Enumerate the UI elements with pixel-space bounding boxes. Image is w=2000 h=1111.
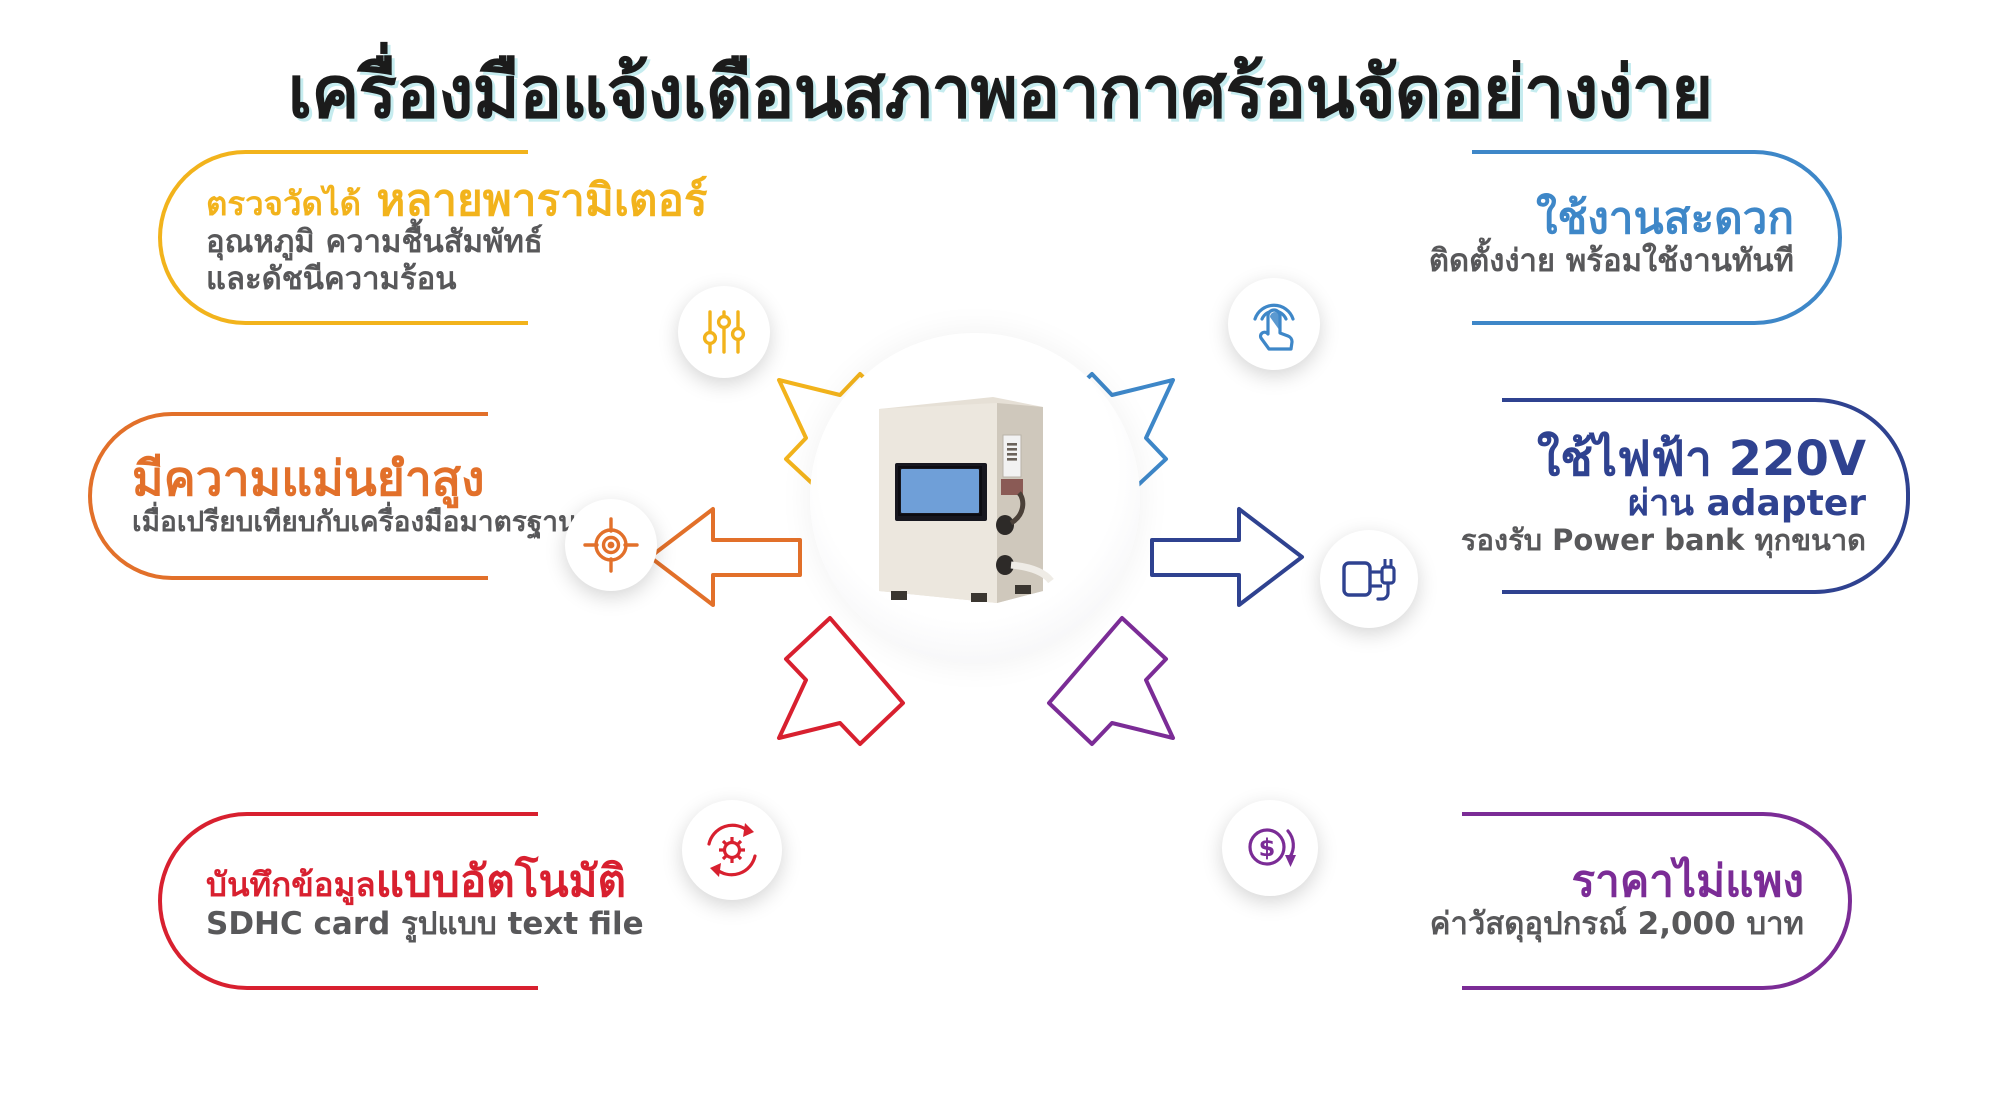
card-headline-auto-logging: บันทึกข้อมูลแบบอัตโนมัติ [206, 859, 626, 906]
plug-adapter-icon-bubble[interactable] [1320, 530, 1418, 628]
plug-adapter-icon [1340, 551, 1398, 607]
card-headline-low-price: ราคาไม่แพง [1572, 859, 1804, 906]
arrow-left [650, 509, 800, 605]
card-power-supply[interactable]: ใช้ไฟฟ้า 220V ผ่าน adapter รองรับ Power … [1502, 398, 1910, 594]
touch-tap-icon-bubble[interactable] [1228, 278, 1320, 370]
auto-recycle-gear-icon [701, 819, 763, 881]
arrow-down-right [1049, 618, 1173, 744]
card-headline2-power-supply: ผ่าน adapter [1628, 485, 1866, 523]
card-headline-high-accuracy: มีความแม่นยำสูง [132, 454, 485, 505]
card-auto-logging[interactable]: บันทึกข้อมูลแบบอัตโนมัติ SDHC card รูปแบ… [158, 812, 538, 990]
heat-alert-device-photo [875, 395, 1085, 610]
card-sub1-multi-parameter: อุณหภูมิ ความชื้นสัมพัทธ์ [206, 224, 543, 261]
card-easy-to-use[interactable]: ใช้งานสะดวก ติดตั้งง่าย พร้อมใช้งานทันที [1472, 150, 1842, 325]
card-sub1-power-supply: รองรับ Power bank ทุกขนาด [1461, 523, 1866, 557]
card-low-price[interactable]: ราคาไม่แพง ค่าวัสดุอุปกรณ์ 2,000 บาท [1462, 812, 1852, 990]
dollar-down-icon: $ [1241, 819, 1299, 877]
card-sub1-high-accuracy: เมื่อเปรียบเทียบกับเครื่องมือมาตรฐาน [132, 505, 577, 538]
card-high-accuracy[interactable]: มีความแม่นยำสูง เมื่อเปรียบเทียบกับเครื่… [88, 412, 488, 580]
card-sub1-auto-logging: SDHC card รูปแบบ text file [206, 906, 644, 943]
sliders-icon [698, 306, 750, 358]
card-sub1-low-price: ค่าวัสดุอุปกรณ์ 2,000 บาท [1430, 906, 1804, 943]
arrow-right [1152, 509, 1302, 605]
dollar-down-icon-bubble[interactable]: $ [1222, 800, 1318, 896]
sliders-icon-bubble[interactable] [678, 286, 770, 378]
card-multi-parameter[interactable]: ตรวจวัดได้ หลายพารามิเตอร์ อุณหภูมิ ความ… [158, 150, 528, 325]
infographic-canvas: เครื่องมือแจ้งเตือนสภาพอากาศร้อนจัดอย่าง… [0, 0, 2000, 1111]
svg-text:$: $ [1259, 834, 1276, 862]
card-headline-power-supply: ใช้ไฟฟ้า 220V [1537, 434, 1866, 485]
device-body [879, 397, 1051, 603]
auto-recycle-gear-icon-bubble[interactable] [682, 800, 782, 900]
card-sub2-multi-parameter: และดัชนีความร้อน [206, 261, 456, 298]
card-sub1-easy-to-use: ติดตั้งง่าย พร้อมใช้งานทันที [1429, 243, 1794, 280]
card-headline-multi-parameter: ตรวจวัดได้ หลายพารามิเตอร์ [206, 178, 708, 225]
target-icon-bubble[interactable] [565, 499, 657, 591]
arrow-down-left [779, 618, 903, 744]
card-headline-easy-to-use: ใช้งานสะดวก [1536, 196, 1794, 243]
touch-tap-icon [1248, 297, 1300, 351]
target-icon [583, 517, 639, 573]
